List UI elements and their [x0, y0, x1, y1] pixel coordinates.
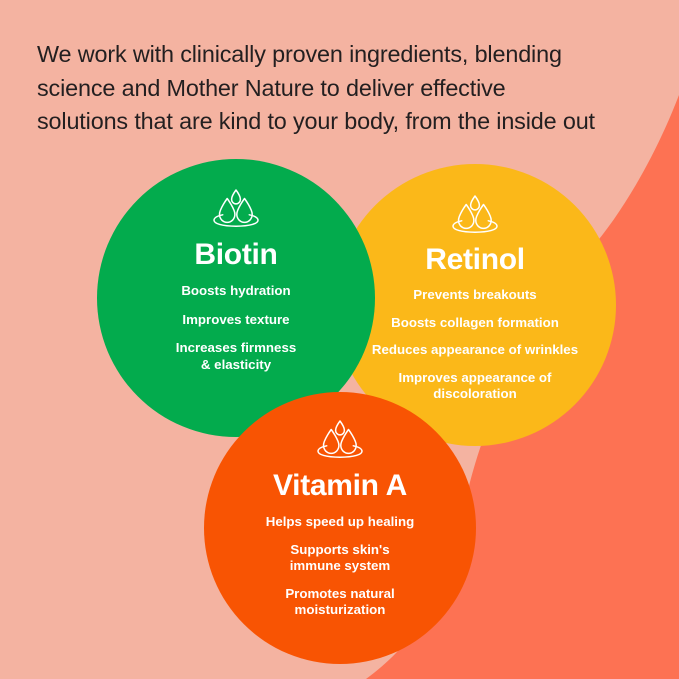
benefit-list: Boosts hydration Improves texture Increa… [176, 283, 296, 373]
benefit-item: Supports skin's immune system [290, 542, 391, 575]
page-title: We work with clinically proven ingredien… [37, 38, 649, 139]
benefit-item: Boosts collagen formation [391, 315, 559, 332]
benefit-item: Improves texture [182, 312, 289, 329]
benefit-item: Boosts hydration [181, 283, 290, 300]
ingredient-card-vitamin-a[interactable]: Vitamin A Helps speed up healing Support… [204, 392, 476, 664]
benefit-item: Prevents breakouts [413, 287, 536, 304]
water-droplets-icon [449, 191, 501, 235]
benefit-list: Helps speed up healing Supports skin's i… [266, 514, 415, 619]
benefit-item: Reduces appearance of wrinkles [372, 342, 578, 359]
water-droplets-icon [210, 185, 262, 229]
benefit-list: Prevents breakouts Boosts collagen forma… [372, 287, 578, 403]
ingredient-title: Vitamin A [273, 469, 407, 503]
water-droplets-icon [314, 416, 366, 460]
benefit-item: Promotes natural moisturization [285, 586, 394, 619]
benefit-item: Increases firmness & elasticity [176, 340, 296, 373]
ingredient-infographic: We work with clinically proven ingredien… [0, 0, 679, 679]
benefit-item: Helps speed up healing [266, 514, 415, 531]
benefit-item: Improves appearance of discoloration [399, 370, 552, 403]
ingredient-title: Biotin [194, 238, 277, 272]
ingredient-title: Retinol [425, 243, 525, 277]
